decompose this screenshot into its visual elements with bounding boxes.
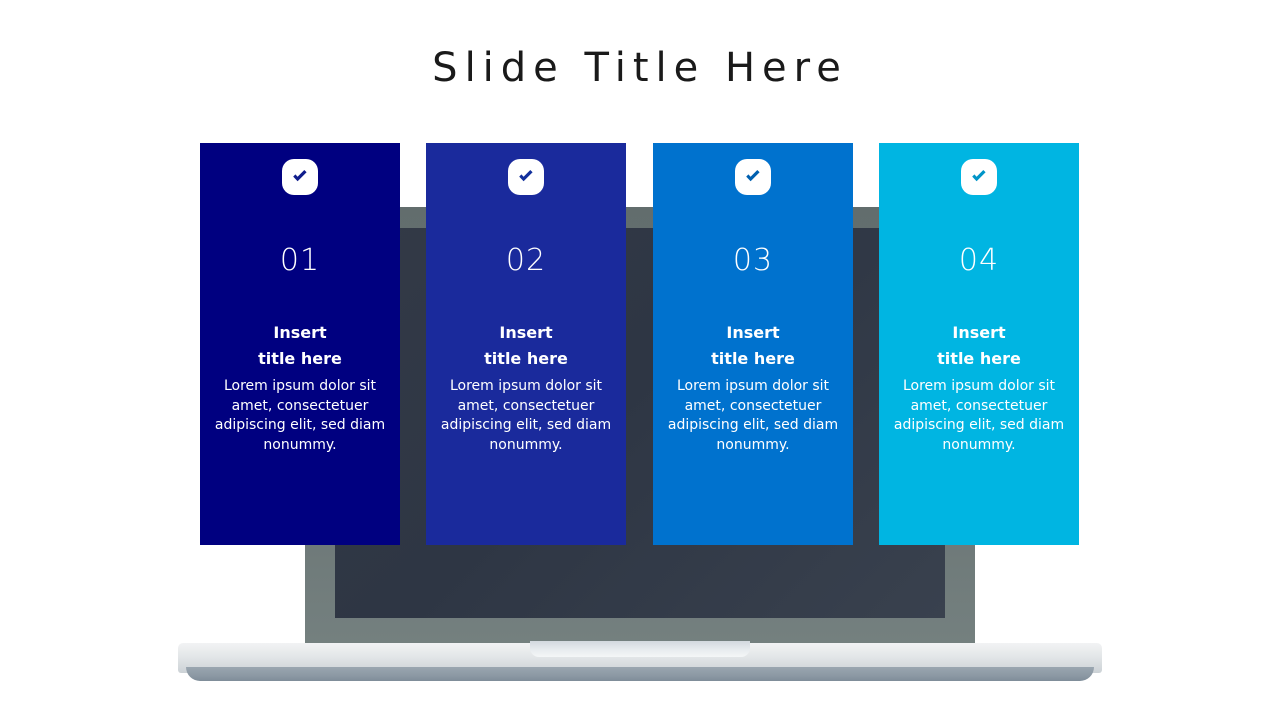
card-item[interactable]: 01 Insert title here Lorem ipsum dolor s… xyxy=(200,143,400,545)
card-heading-line2: title here xyxy=(653,346,853,372)
card-heading-line1: Insert xyxy=(200,320,400,346)
card-heading-line1: Insert xyxy=(426,320,626,346)
card-item[interactable]: 03 Insert title here Lorem ipsum dolor s… xyxy=(653,143,853,545)
card-heading: Insert title here xyxy=(426,320,626,372)
check-badge xyxy=(961,159,997,195)
card-heading-line1: Insert xyxy=(653,320,853,346)
card-item[interactable]: 02 Insert title here Lorem ipsum dolor s… xyxy=(426,143,626,545)
check-icon xyxy=(290,167,310,187)
card-heading: Insert title here xyxy=(879,320,1079,372)
card-number: 04 xyxy=(879,246,1079,276)
card-list: 01 Insert title here Lorem ipsum dolor s… xyxy=(0,0,1280,720)
card-item[interactable]: 04 Insert title here Lorem ipsum dolor s… xyxy=(879,143,1079,545)
check-badge xyxy=(735,159,771,195)
check-badge xyxy=(282,159,318,195)
card-heading: Insert title here xyxy=(653,320,853,372)
card-heading: Insert title here xyxy=(200,320,400,372)
card-heading-line2: title here xyxy=(200,346,400,372)
card-number: 01 xyxy=(200,246,400,276)
check-icon xyxy=(743,167,763,187)
card-body-text: Lorem ipsum dolor sit amet, consectetuer… xyxy=(879,377,1079,455)
card-body-text: Lorem ipsum dolor sit amet, consectetuer… xyxy=(200,377,400,455)
card-heading-line2: title here xyxy=(879,346,1079,372)
check-badge xyxy=(508,159,544,195)
card-body-text: Lorem ipsum dolor sit amet, consectetuer… xyxy=(426,377,626,455)
card-body-text: Lorem ipsum dolor sit amet, consectetuer… xyxy=(653,377,853,455)
card-number: 03 xyxy=(653,246,853,276)
check-icon xyxy=(969,167,989,187)
card-number: 02 xyxy=(426,246,626,276)
check-icon xyxy=(516,167,536,187)
card-heading-line1: Insert xyxy=(879,320,1079,346)
card-heading-line2: title here xyxy=(426,346,626,372)
slide-canvas: Slide Title Here 01 Insert title here Lo… xyxy=(0,0,1280,720)
